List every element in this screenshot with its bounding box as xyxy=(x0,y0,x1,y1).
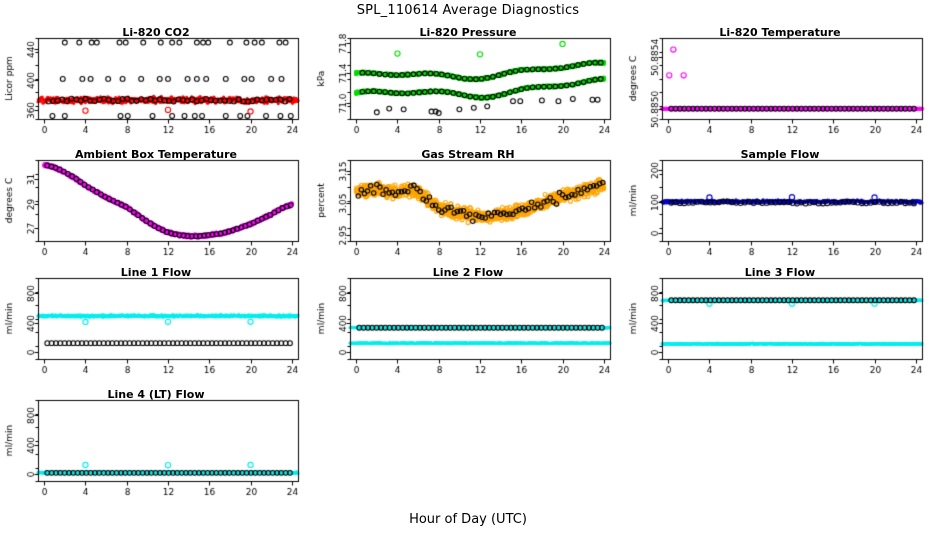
plot-canvas xyxy=(312,148,624,270)
panel-sample-flow: Sample Flow xyxy=(624,148,936,270)
plot-canvas xyxy=(624,266,936,388)
panel-title: Gas Stream RH xyxy=(312,148,624,161)
panel-title: Sample Flow xyxy=(624,148,936,161)
panel-line-3-flow: Line 3 Flow xyxy=(624,266,936,388)
panel-title: Li-820 CO2 xyxy=(0,26,312,39)
panel-title: Line 1 Flow xyxy=(0,266,312,279)
panel-title: Line 4 (LT) Flow xyxy=(0,388,312,401)
plot-canvas xyxy=(0,26,312,148)
panel-title: Line 2 Flow xyxy=(312,266,624,279)
plot-canvas xyxy=(624,26,936,148)
panel-li820-pressure: Li-820 Pressure xyxy=(312,26,624,148)
panel-line-4-lt-flow: Line 4 (LT) Flow xyxy=(0,388,312,510)
panel-ambient-box-temperature: Ambient Box Temperature xyxy=(0,148,312,270)
panel-gas-stream-rh: Gas Stream RH xyxy=(312,148,624,270)
panel-line-2-flow: Line 2 Flow xyxy=(312,266,624,388)
plot-canvas xyxy=(312,266,624,388)
panel-title: Li-820 Pressure xyxy=(312,26,624,39)
panel-title: Ambient Box Temperature xyxy=(0,148,312,161)
plot-canvas xyxy=(0,266,312,388)
panel-li820-co2: Li-820 CO2 xyxy=(0,26,312,148)
panel-li820-temperature: Li-820 Temperature xyxy=(624,26,936,148)
plot-canvas xyxy=(624,148,936,270)
plot-canvas xyxy=(0,388,312,510)
panel-title: Line 3 Flow xyxy=(624,266,936,279)
x-axis-footer-label: Hour of Day (UTC) xyxy=(0,512,936,527)
page-title: SPL_110614 Average Diagnostics xyxy=(0,3,936,18)
panel-title: Li-820 Temperature xyxy=(624,26,936,39)
plot-canvas xyxy=(0,148,312,270)
panel-line-1-flow: Line 1 Flow xyxy=(0,266,312,388)
plot-canvas xyxy=(312,26,624,148)
